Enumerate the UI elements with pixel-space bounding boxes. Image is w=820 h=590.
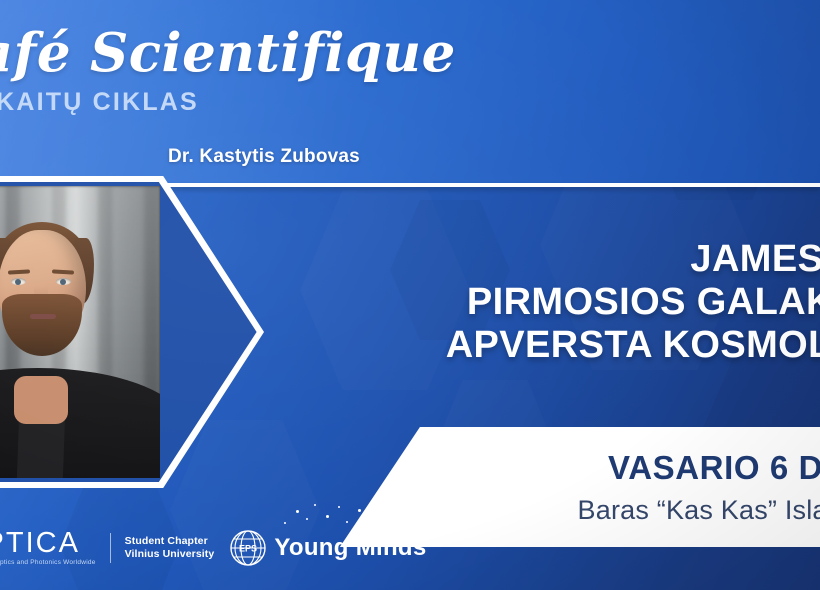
logo-divider	[110, 533, 111, 563]
event-date: VASARIO 6 D. 19:00	[410, 449, 820, 487]
sponsor-logos: OPTICA Advancing Optics and Photonics Wo…	[0, 528, 427, 568]
event-poster: Café Scientifique PASKAITŲ CIKLAS Dr. Ka…	[0, 0, 820, 590]
chapter-line-2: Vilnius University	[125, 548, 215, 561]
brand-subtitle: PASKAITŲ CIKLAS	[0, 88, 199, 117]
lecture-title-line-2: PIRMOSIOS GALAKTIKOS	[12, 281, 820, 324]
chapter-line-1: Student Chapter	[125, 535, 215, 548]
lecture-title-line-1: JAMES WEBB	[12, 238, 820, 281]
optica-wordmark: OPTICA	[0, 529, 96, 558]
optica-logo: OPTICA Advancing Optics and Photonics Wo…	[0, 529, 96, 567]
stars-decoration	[280, 502, 460, 542]
svg-text:EPS: EPS	[239, 543, 257, 553]
event-venue: Baras “Kas Kas” Islandijos g.	[410, 495, 820, 526]
lecture-title-line-3: APVERSTA KOSMOLOGIJA	[12, 324, 820, 367]
brand-script-title: Café Scientifique	[0, 22, 456, 84]
speaker-name: Dr. Kastytis Zubovas	[168, 146, 360, 168]
optica-tagline: Advancing Optics and Photonics Worldwide	[0, 560, 96, 567]
lecture-title: JAMES WEBB PIRMOSIOS GALAKTIKOS APVERSTA…	[12, 238, 820, 367]
globe-icon: EPS	[228, 528, 268, 568]
eps-young-minds-logo: EPS Young Minds	[228, 528, 426, 568]
student-chapter-text: Student Chapter Vilnius University	[125, 535, 215, 562]
